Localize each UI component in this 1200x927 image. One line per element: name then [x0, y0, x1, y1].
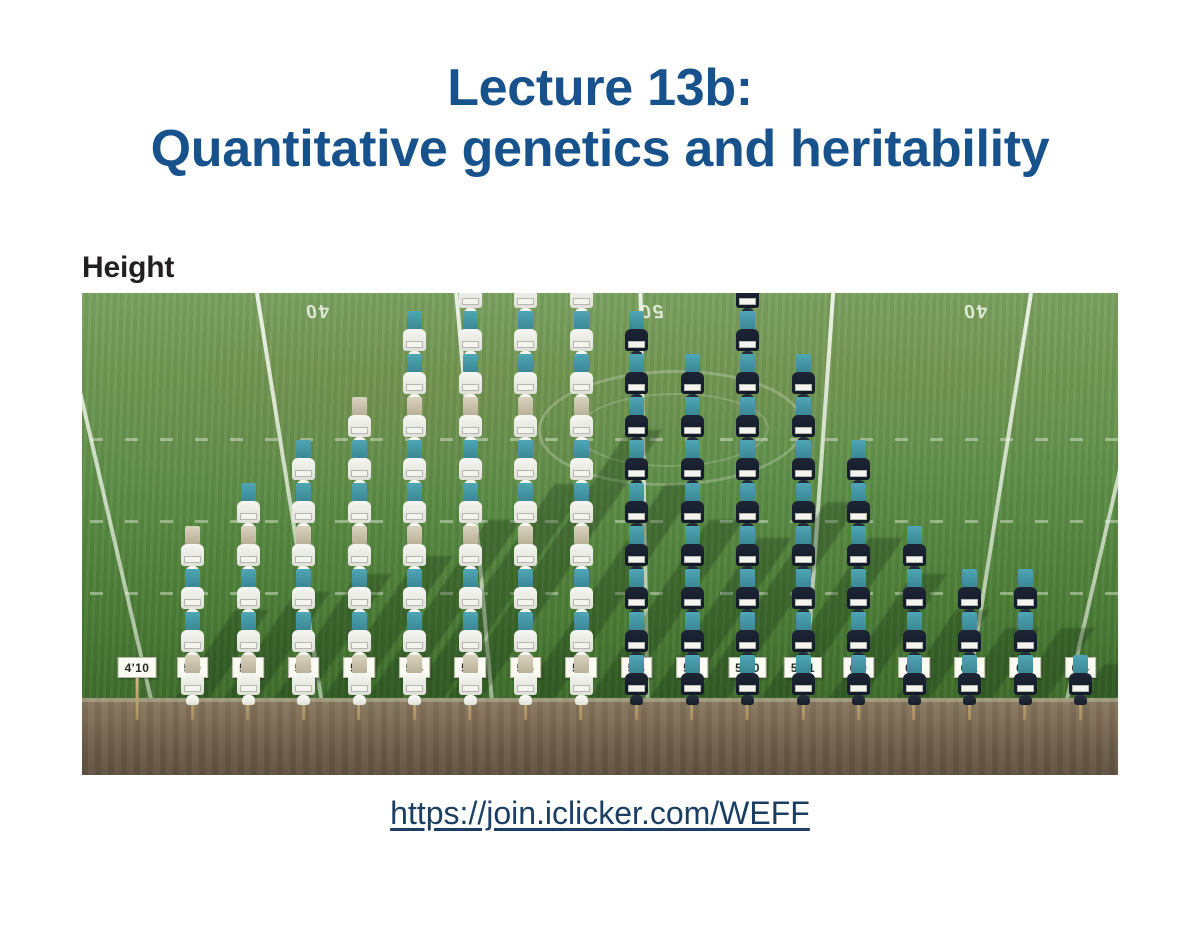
person-shirt — [847, 458, 870, 480]
person-shirt — [514, 630, 537, 652]
person-shirt — [681, 630, 704, 652]
person-name-card — [906, 599, 923, 606]
person-legs — [463, 397, 478, 415]
person-name-card — [462, 427, 479, 434]
person — [679, 655, 705, 705]
person-shirt — [570, 458, 593, 480]
height-distribution-photo: 405040 4'105'05'15'25'35'45'55'65'75'85'… — [82, 293, 1118, 775]
person-name-card — [739, 384, 756, 391]
person-legs — [185, 655, 200, 673]
person-name-card — [573, 556, 590, 563]
person-name-card — [517, 599, 534, 606]
person-name-card — [351, 685, 368, 692]
person-shirt — [792, 544, 815, 566]
person-shirt — [403, 673, 426, 695]
person-name-card — [573, 685, 590, 692]
person-legs — [518, 569, 533, 587]
person-shirt — [736, 501, 759, 523]
person-name-card — [628, 341, 645, 348]
person-shirt — [736, 544, 759, 566]
person-legs — [296, 526, 311, 544]
person-shirt — [681, 458, 704, 480]
person-name-card — [573, 341, 590, 348]
person-legs — [518, 655, 533, 673]
person-name-card — [573, 642, 590, 649]
person — [957, 655, 983, 705]
person-shirt — [736, 372, 759, 394]
person-shirt — [514, 415, 537, 437]
person-shirt — [792, 630, 815, 652]
person-legs — [851, 526, 866, 544]
person-name-card — [295, 513, 312, 520]
height-column-5-1 — [232, 483, 264, 698]
person-legs — [407, 440, 422, 458]
person-legs — [574, 354, 589, 372]
person-name-card — [739, 513, 756, 520]
person-legs — [407, 397, 422, 415]
person-name-card — [295, 599, 312, 606]
person-name-card — [1017, 642, 1034, 649]
person-cap — [186, 695, 199, 705]
person-legs — [463, 440, 478, 458]
person-name-card — [850, 513, 867, 520]
height-column-6-0 — [843, 440, 875, 698]
person-legs — [685, 569, 700, 587]
person-name-card — [462, 642, 479, 649]
person-name-card — [795, 384, 812, 391]
person-legs — [796, 569, 811, 587]
person-shirt — [681, 673, 704, 695]
person-shirt — [237, 501, 260, 523]
person-legs — [851, 655, 866, 673]
person-name-card — [795, 427, 812, 434]
person-name-card — [795, 470, 812, 477]
person-shirt — [1014, 587, 1037, 609]
person-legs — [907, 612, 922, 630]
person-name-card — [295, 470, 312, 477]
person-legs — [574, 311, 589, 329]
person-shirt — [403, 630, 426, 652]
person-shirt — [459, 293, 482, 308]
person-cap — [1019, 695, 1032, 705]
person-name-card — [628, 685, 645, 692]
person-shirt — [292, 587, 315, 609]
person-name-card — [240, 642, 257, 649]
person-shirt — [181, 544, 204, 566]
person-legs — [518, 612, 533, 630]
height-column-5-3 — [343, 397, 375, 698]
height-column-5-5 — [454, 293, 486, 698]
person-name-card — [184, 685, 201, 692]
height-column-6-1 — [898, 526, 930, 698]
person-legs — [629, 526, 644, 544]
person-name-card — [1017, 685, 1034, 692]
person-legs — [463, 354, 478, 372]
person-shirt — [570, 544, 593, 566]
person-legs — [185, 526, 200, 544]
height-column-5-11 — [787, 354, 819, 698]
person — [846, 655, 872, 705]
person-name-card — [573, 470, 590, 477]
person-shirt — [958, 673, 981, 695]
height-column-5-7 — [565, 293, 597, 698]
person-legs — [1018, 612, 1033, 630]
person — [901, 655, 927, 705]
person-legs — [241, 612, 256, 630]
person-name-card — [462, 298, 479, 305]
person-legs — [463, 311, 478, 329]
person-legs — [1018, 655, 1033, 673]
person-shirt — [348, 630, 371, 652]
person-legs — [740, 483, 755, 501]
person-legs — [296, 655, 311, 673]
person-name-card — [351, 599, 368, 606]
person-shirt — [625, 329, 648, 351]
person-legs — [685, 612, 700, 630]
person-legs — [518, 354, 533, 372]
person-name-card — [739, 599, 756, 606]
person-legs — [685, 483, 700, 501]
person-legs — [296, 612, 311, 630]
person-legs — [629, 311, 644, 329]
title-line-2: Quantitative genetics and heritability — [0, 119, 1200, 180]
person-name-card — [684, 599, 701, 606]
height-column-6-4 — [1065, 655, 1097, 698]
person-name-card — [739, 298, 756, 305]
person-name-card — [739, 685, 756, 692]
person-legs — [241, 526, 256, 544]
person — [513, 655, 539, 705]
person-name-card — [628, 556, 645, 563]
person-legs — [518, 526, 533, 544]
person-legs — [796, 397, 811, 415]
person-name-card — [462, 599, 479, 606]
person-legs — [685, 655, 700, 673]
person-shirt — [292, 673, 315, 695]
height-column-5-0 — [177, 526, 209, 698]
person-name-card — [961, 599, 978, 606]
person-legs — [352, 397, 367, 415]
person-legs — [574, 440, 589, 458]
person-name-card — [961, 685, 978, 692]
person-name-card — [406, 513, 423, 520]
person-legs — [574, 526, 589, 544]
person-name-card — [795, 642, 812, 649]
person-shirt — [403, 458, 426, 480]
person-name-card — [517, 685, 534, 692]
person-legs — [352, 440, 367, 458]
person — [568, 655, 594, 705]
person-name-card — [517, 513, 534, 520]
person-name-card — [628, 599, 645, 606]
height-column-6-2 — [954, 569, 986, 698]
person-legs — [574, 397, 589, 415]
person-shirt — [570, 329, 593, 351]
person-shirt — [792, 415, 815, 437]
sign-label: 4'10 — [118, 657, 157, 678]
person-name-card — [406, 642, 423, 649]
height-column-5-6 — [510, 293, 542, 698]
person-shirt — [625, 501, 648, 523]
person-legs — [185, 569, 200, 587]
person-legs — [463, 526, 478, 544]
person-shirt — [570, 587, 593, 609]
person-shirt — [403, 501, 426, 523]
person-name-card — [573, 513, 590, 520]
person-legs — [685, 526, 700, 544]
person-shirt — [570, 630, 593, 652]
height-column-6-3 — [1009, 569, 1041, 698]
person-shirt — [681, 587, 704, 609]
person-name-card — [406, 427, 423, 434]
person — [1068, 655, 1094, 705]
person-legs — [574, 569, 589, 587]
person-legs — [851, 612, 866, 630]
person-name-card — [628, 470, 645, 477]
person-shirt — [847, 673, 870, 695]
person-name-card — [351, 513, 368, 520]
person-cap — [908, 695, 921, 705]
person-shirt — [403, 372, 426, 394]
person-shirt — [348, 458, 371, 480]
person-shirt — [292, 458, 315, 480]
person-name-card — [351, 642, 368, 649]
person-name-card — [573, 427, 590, 434]
person-legs — [407, 526, 422, 544]
person-name-card — [850, 685, 867, 692]
person-shirt — [903, 673, 926, 695]
person — [180, 655, 206, 705]
person-shirt — [958, 630, 981, 652]
person-name-card — [684, 556, 701, 563]
person-cap — [297, 695, 310, 705]
person-shirt — [792, 372, 815, 394]
person-name-card — [240, 599, 257, 606]
person-legs — [296, 440, 311, 458]
person-name-card — [406, 470, 423, 477]
person-legs — [851, 440, 866, 458]
person-name-card — [906, 556, 923, 563]
person-cap — [741, 695, 754, 705]
person-legs — [407, 483, 422, 501]
person-legs — [1073, 655, 1088, 673]
person-name-card — [906, 685, 923, 692]
person-shirt — [403, 415, 426, 437]
person-name-card — [684, 685, 701, 692]
person-shirt — [847, 587, 870, 609]
person-legs — [740, 440, 755, 458]
person-legs — [907, 569, 922, 587]
person-shirt — [459, 673, 482, 695]
person-name-card — [628, 513, 645, 520]
person-shirt — [348, 415, 371, 437]
person-legs — [518, 440, 533, 458]
person-legs — [352, 569, 367, 587]
person-shirt — [459, 587, 482, 609]
person-name-card — [351, 556, 368, 563]
person-name-card — [906, 642, 923, 649]
person-shirt — [181, 587, 204, 609]
person-name-card — [684, 642, 701, 649]
person-shirt — [792, 673, 815, 695]
person-shirt — [237, 630, 260, 652]
person-shirt — [237, 673, 260, 695]
person-shirt — [348, 501, 371, 523]
person-shirt — [847, 501, 870, 523]
person-legs — [685, 397, 700, 415]
person-legs — [740, 526, 755, 544]
person-legs — [296, 569, 311, 587]
person-legs — [407, 612, 422, 630]
page-title: Lecture 13b: Quantitative genetics and h… — [0, 58, 1200, 181]
person-name-card — [739, 470, 756, 477]
person-legs — [407, 311, 422, 329]
person-shirt — [736, 673, 759, 695]
person-shirt — [403, 329, 426, 351]
person-name-card — [240, 685, 257, 692]
person-legs — [352, 526, 367, 544]
person-shirt — [459, 501, 482, 523]
person-legs — [851, 569, 866, 587]
person-legs — [740, 569, 755, 587]
person-legs — [407, 354, 422, 372]
person-shirt — [681, 415, 704, 437]
height-column-5-9 — [676, 354, 708, 698]
person-name-card — [517, 341, 534, 348]
iclicker-join-link[interactable]: https://join.iclicker.com/WEFF — [0, 795, 1200, 832]
person-shirt — [681, 501, 704, 523]
person-shirt — [348, 544, 371, 566]
person-name-card — [961, 642, 978, 649]
person-shirt — [237, 587, 260, 609]
person-shirt — [181, 630, 204, 652]
person-name-card — [295, 642, 312, 649]
person-name-card — [739, 556, 756, 563]
person-shirt — [736, 329, 759, 351]
person-cap — [686, 695, 699, 705]
person-name-card — [462, 556, 479, 563]
person-name-card — [850, 470, 867, 477]
person-legs — [463, 612, 478, 630]
person-shirt — [292, 544, 315, 566]
person-shirt — [625, 544, 648, 566]
person-shirt — [348, 673, 371, 695]
person-legs — [574, 483, 589, 501]
person-shirt — [903, 587, 926, 609]
person-shirt — [736, 458, 759, 480]
person-shirt — [459, 415, 482, 437]
person — [291, 655, 317, 705]
person-legs — [740, 655, 755, 673]
person-legs — [518, 483, 533, 501]
person-name-card — [795, 556, 812, 563]
person-shirt — [514, 544, 537, 566]
person-shirt — [459, 458, 482, 480]
title-line-1: Lecture 13b: — [447, 59, 753, 117]
person-legs — [796, 526, 811, 544]
person-name-card — [295, 556, 312, 563]
person-shirt — [903, 630, 926, 652]
person-name-card — [184, 642, 201, 649]
person-legs — [241, 483, 256, 501]
height-column-5-4 — [399, 311, 431, 698]
person-shirt — [736, 587, 759, 609]
person-shirt — [514, 458, 537, 480]
person-legs — [463, 569, 478, 587]
person-name-card — [517, 427, 534, 434]
person-name-card — [739, 427, 756, 434]
person-legs — [796, 354, 811, 372]
person-name-card — [406, 685, 423, 692]
person-shirt — [1014, 673, 1037, 695]
person-cap — [519, 695, 532, 705]
height-column-5-2 — [288, 440, 320, 698]
person-name-card — [850, 599, 867, 606]
person-name-card — [628, 427, 645, 434]
person-name-card — [795, 599, 812, 606]
person — [1012, 655, 1038, 705]
person-legs — [296, 483, 311, 501]
person-legs — [518, 397, 533, 415]
person-shirt — [570, 372, 593, 394]
person-name-card — [517, 384, 534, 391]
person-name-card — [795, 685, 812, 692]
person-shirt — [459, 372, 482, 394]
person-cap — [852, 695, 865, 705]
person-shirt — [292, 630, 315, 652]
person-legs — [629, 440, 644, 458]
person-legs — [740, 397, 755, 415]
person-name-card — [795, 513, 812, 520]
person-name-card — [1072, 685, 1089, 692]
person-name-card — [351, 470, 368, 477]
person-shirt — [514, 372, 537, 394]
person-legs — [796, 483, 811, 501]
person — [402, 655, 428, 705]
person-shirt — [570, 415, 593, 437]
person-shirt — [736, 630, 759, 652]
person-name-card — [684, 384, 701, 391]
person-legs — [796, 612, 811, 630]
person-name-card — [406, 384, 423, 391]
person-cap — [1074, 695, 1087, 705]
person — [624, 655, 650, 705]
person-legs — [907, 526, 922, 544]
person-shirt — [1069, 673, 1092, 695]
person-legs — [962, 612, 977, 630]
person-legs — [907, 655, 922, 673]
person-name-card — [406, 556, 423, 563]
person-name-card — [184, 599, 201, 606]
person-legs — [685, 354, 700, 372]
person-legs — [629, 569, 644, 587]
person-name-card — [240, 513, 257, 520]
person-name-card — [295, 685, 312, 692]
height-column-5-10 — [732, 293, 764, 698]
person-legs — [352, 655, 367, 673]
person-name-card — [850, 642, 867, 649]
person — [235, 655, 261, 705]
person-legs — [463, 655, 478, 673]
person-legs — [851, 483, 866, 501]
person-legs — [518, 311, 533, 329]
person-shirt — [1014, 630, 1037, 652]
person-legs — [962, 655, 977, 673]
person-shirt — [403, 544, 426, 566]
person-shirt — [625, 630, 648, 652]
person-name-card — [573, 298, 590, 305]
person-name-card — [406, 341, 423, 348]
